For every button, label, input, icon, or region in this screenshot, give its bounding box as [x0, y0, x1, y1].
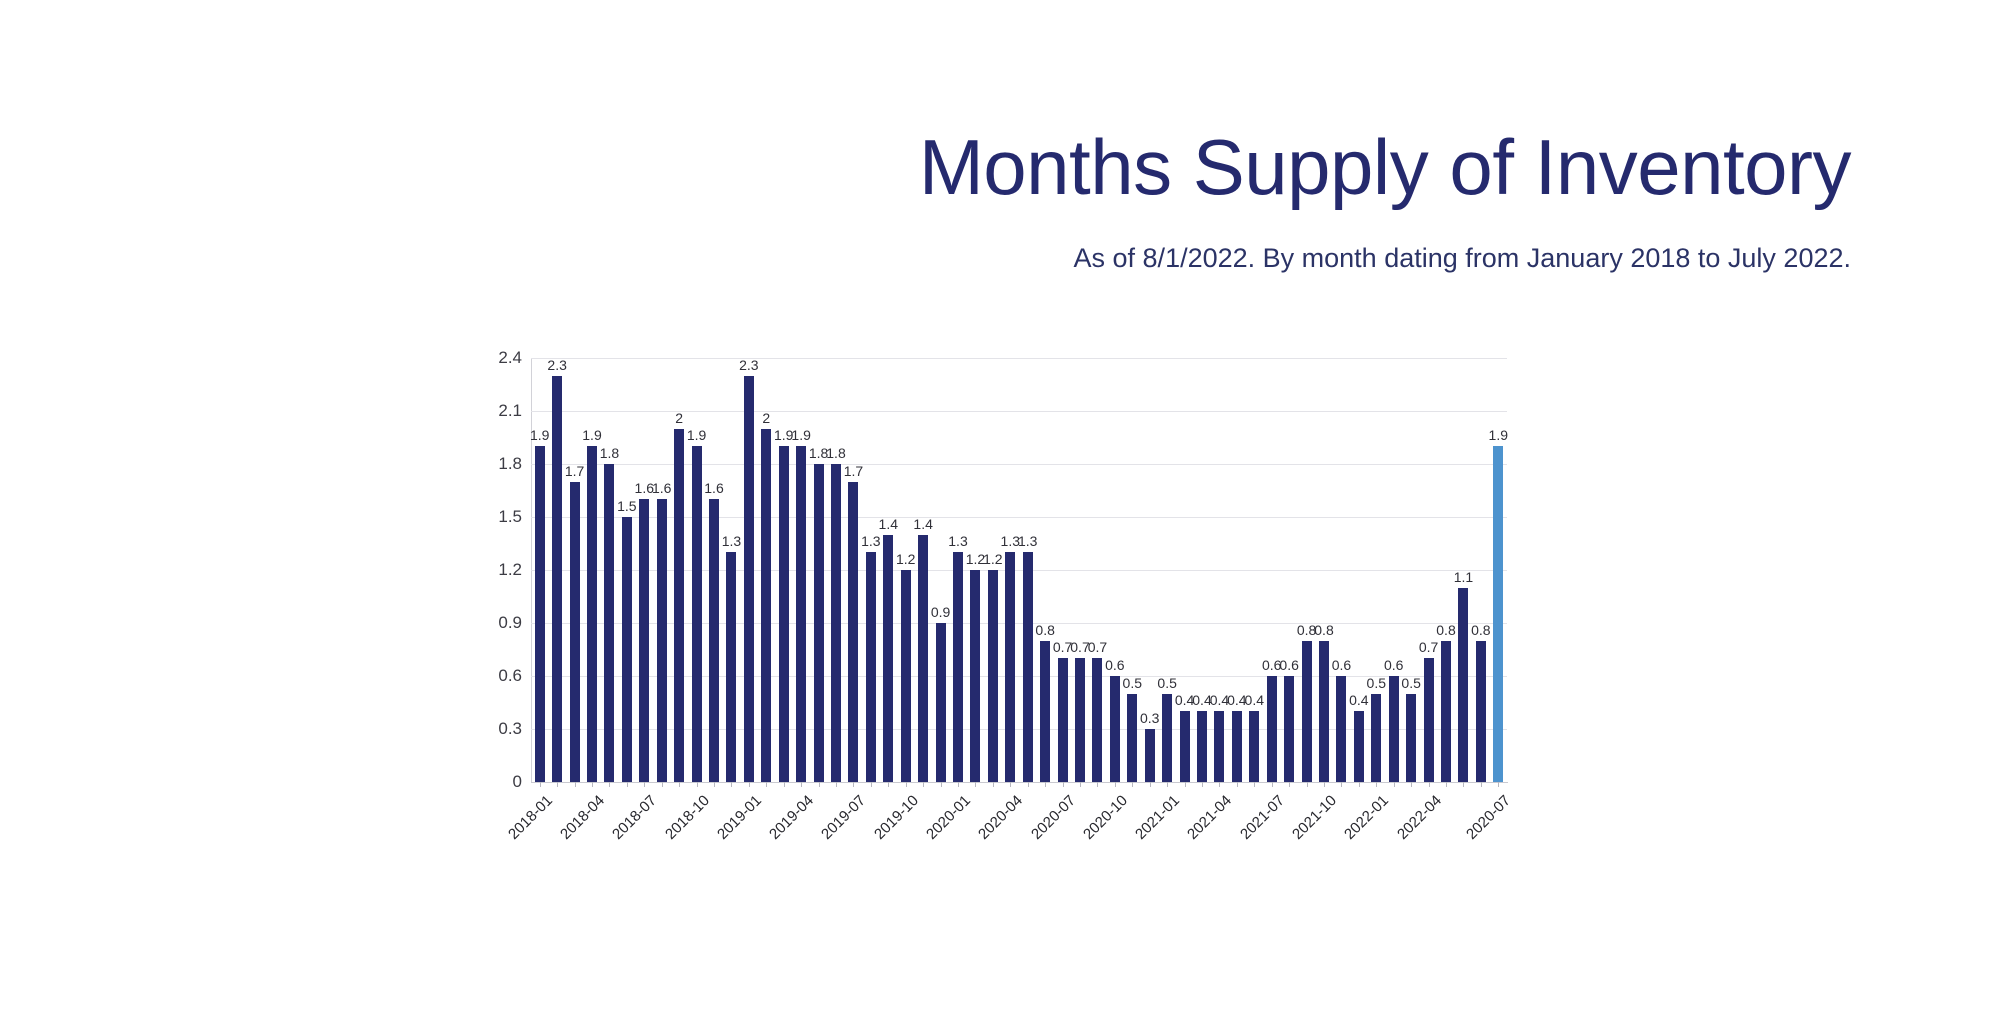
bar-value-label: 0.4 [1349, 692, 1368, 708]
bar[interactable] [570, 482, 580, 782]
bar-value-label: 2.3 [547, 357, 566, 373]
gridline [531, 358, 1507, 359]
bar-value-label: 0.7 [1088, 639, 1107, 655]
x-axis-tick-mark [784, 782, 785, 787]
bar-value-label: 0.8 [1436, 622, 1455, 638]
bar-value-label: 0.5 [1401, 675, 1420, 691]
x-axis-tick-mark [1324, 782, 1325, 787]
bar[interactable] [936, 623, 946, 782]
bar[interactable] [1162, 694, 1172, 782]
bar-value-label: 0.6 [1105, 657, 1124, 673]
bar-value-label: 1.9 [791, 427, 810, 443]
y-axis-tick-label: 2.4 [498, 348, 522, 368]
x-axis-tick-mark [1376, 782, 1377, 787]
x-axis-tick-mark [958, 782, 959, 787]
bar[interactable] [1232, 711, 1242, 782]
bar[interactable] [918, 535, 928, 782]
bar-value-label: 1.3 [861, 533, 880, 549]
x-axis-tick-mark [1219, 782, 1220, 787]
bar-value-label: 1.3 [1018, 533, 1037, 549]
bar[interactable] [1197, 711, 1207, 782]
bar-value-label: 0.6 [1384, 657, 1403, 673]
bar[interactable] [848, 482, 858, 782]
x-axis-tick-mark [1185, 782, 1186, 787]
y-axis-tick-labels: 00.30.60.91.21.51.82.12.4 [470, 358, 522, 782]
bar[interactable] [1127, 694, 1137, 782]
x-axis-tick-mark [1237, 782, 1238, 787]
x-axis-tick-mark [1080, 782, 1081, 787]
x-axis-tick-mark [609, 782, 610, 787]
bar[interactable] [1180, 711, 1190, 782]
bar-value-label: 2.3 [739, 357, 758, 373]
x-axis-tick-mark [1359, 782, 1360, 787]
bar-value-label: 1.9 [687, 427, 706, 443]
y-axis-tick-label: 0.3 [498, 719, 522, 739]
x-axis-tick-mark [662, 782, 663, 787]
bar[interactable] [1005, 552, 1015, 782]
bar-value-label: 1.3 [722, 533, 741, 549]
bar[interactable] [779, 446, 789, 782]
bar[interactable] [988, 570, 998, 782]
bar[interactable] [1040, 641, 1050, 782]
x-axis-tick-mark [540, 782, 541, 787]
bar[interactable] [1354, 711, 1364, 782]
bar-value-label: 2 [762, 410, 770, 426]
bar[interactable] [535, 446, 545, 782]
bar-value-label: 1.7 [844, 463, 863, 479]
bar[interactable] [1476, 641, 1486, 782]
x-axis-tick-mark [1272, 782, 1273, 787]
x-axis-tick-mark [853, 782, 854, 787]
x-axis-tick-mark [1150, 782, 1151, 787]
bar-value-label: 1.2 [983, 551, 1002, 567]
bar-value-label: 0.6 [1279, 657, 1298, 673]
bar[interactable] [1023, 552, 1033, 782]
bar-value-label: 1.1 [1454, 569, 1473, 585]
bar[interactable] [587, 446, 597, 782]
x-axis-tick-mark [644, 782, 645, 787]
y-axis-tick-label: 0.9 [498, 613, 522, 633]
bar[interactable] [622, 517, 632, 782]
x-axis-tick-mark [557, 782, 558, 787]
bar[interactable] [1319, 641, 1329, 782]
bar[interactable] [604, 464, 614, 782]
y-axis-tick-label: 1.2 [498, 560, 522, 580]
bar-chart: 00.30.60.91.21.51.82.12.4 1.92.31.71.91.… [0, 0, 2000, 1000]
bar[interactable] [744, 376, 754, 782]
x-axis-tick-mark [1341, 782, 1342, 787]
bar-value-label: 1.6 [652, 480, 671, 496]
x-axis-tick-mark [1307, 782, 1308, 787]
bar[interactable] [814, 464, 824, 782]
bar-value-label: 1.8 [600, 445, 619, 461]
x-axis-tick-mark [1446, 782, 1447, 787]
bar[interactable] [1389, 676, 1399, 782]
bar-value-label: 1.6 [704, 480, 723, 496]
bar-value-label: 0.4 [1245, 692, 1264, 708]
bar[interactable] [796, 446, 806, 782]
x-axis-tick-mark [1254, 782, 1255, 787]
bar[interactable] [1441, 641, 1451, 782]
x-axis-tick-mark [1289, 782, 1290, 787]
bar[interactable] [1058, 658, 1068, 782]
bar-value-label: 0.7 [1419, 639, 1438, 655]
y-axis-tick-label: 2.1 [498, 401, 522, 421]
bar[interactable] [1458, 588, 1468, 782]
x-axis-tick-mark [575, 782, 576, 787]
x-axis-tick-mark [1063, 782, 1064, 787]
bar-value-label: 0.9 [931, 604, 950, 620]
bar[interactable] [901, 570, 911, 782]
x-axis-tick-mark [1463, 782, 1464, 787]
x-axis-tick-mark [801, 782, 802, 787]
bar-value-label: 1.4 [879, 516, 898, 532]
bar[interactable] [1371, 694, 1381, 782]
bar-value-label: 0.6 [1332, 657, 1351, 673]
x-axis-tick-mark [731, 782, 732, 787]
bar[interactable] [1110, 676, 1120, 782]
bar[interactable] [1249, 711, 1259, 782]
bar[interactable] [866, 552, 876, 782]
bar[interactable] [761, 429, 771, 782]
x-axis-tick-mark [923, 782, 924, 787]
bar[interactable] [709, 499, 719, 782]
bar[interactable] [1267, 676, 1277, 782]
x-axis-tick-mark [697, 782, 698, 787]
bar-value-label: 1.2 [896, 551, 915, 567]
bar-value-label: 1.9 [530, 427, 549, 443]
bar-value-label: 0.8 [1314, 622, 1333, 638]
bar[interactable] [1284, 676, 1294, 782]
bar-value-label: 1.8 [826, 445, 845, 461]
y-axis-tick-label: 1.8 [498, 454, 522, 474]
x-axis-tick-mark [1028, 782, 1029, 787]
bar[interactable] [1424, 658, 1434, 782]
x-axis-tick-mark [993, 782, 994, 787]
bar-value-label: 0.5 [1367, 675, 1386, 691]
x-axis-tick-mark [1429, 782, 1430, 787]
bar[interactable] [1145, 729, 1155, 782]
bar-value-label: 0.3 [1140, 710, 1159, 726]
bar[interactable] [953, 552, 963, 782]
x-axis-tick-mark [766, 782, 767, 787]
y-axis-tick-label: 1.5 [498, 507, 522, 527]
x-axis-tick-mark [836, 782, 837, 787]
x-axis-tick-mark [941, 782, 942, 787]
bar[interactable] [657, 499, 667, 782]
bar-value-label: 1.9 [582, 427, 601, 443]
bar[interactable] [883, 535, 893, 782]
bar[interactable] [674, 429, 684, 782]
bar[interactable] [1336, 676, 1346, 782]
y-axis-tick-label: 0 [513, 772, 522, 792]
bar[interactable] [1214, 711, 1224, 782]
bar[interactable] [639, 499, 649, 782]
bar-value-label: 0.5 [1123, 675, 1142, 691]
x-axis-tick-mark [1481, 782, 1482, 787]
bar[interactable] [831, 464, 841, 782]
bar[interactable] [692, 446, 702, 782]
x-axis-tick-mark [1097, 782, 1098, 787]
x-axis-tick-mark [906, 782, 907, 787]
x-axis-tick-mark [592, 782, 593, 787]
x-axis-tick-mark [1167, 782, 1168, 787]
bar[interactable] [1092, 658, 1102, 782]
bar[interactable] [1075, 658, 1085, 782]
bar-value-label: 1.4 [913, 516, 932, 532]
bar-value-label: 0.8 [1471, 622, 1490, 638]
x-axis-line [531, 782, 1508, 783]
x-axis-tick-mark [888, 782, 889, 787]
x-axis-tick-mark [1498, 782, 1499, 787]
x-axis-tick-mark [1411, 782, 1412, 787]
bar-value-label: 1.5 [617, 498, 636, 514]
x-axis-tick-mark [1045, 782, 1046, 787]
x-axis-tick-mark [819, 782, 820, 787]
x-axis-tick-mark [871, 782, 872, 787]
x-axis-tick-mark [714, 782, 715, 787]
x-axis-tick-mark [1132, 782, 1133, 787]
bar-value-label: 1.7 [565, 463, 584, 479]
x-axis-tick-mark [1202, 782, 1203, 787]
bar[interactable] [552, 376, 562, 782]
x-axis-tick-mark [1115, 782, 1116, 787]
bar[interactable] [726, 552, 736, 782]
x-axis-tick-mark [749, 782, 750, 787]
bar-value-label: 1.9 [1489, 427, 1508, 443]
x-axis-tick-mark [975, 782, 976, 787]
bar[interactable] [970, 570, 980, 782]
x-axis-tick-mark [679, 782, 680, 787]
bar[interactable] [1493, 446, 1503, 782]
bar[interactable] [1406, 694, 1416, 782]
bar-value-label: 2 [675, 410, 683, 426]
x-axis-tick-mark [1394, 782, 1395, 787]
plot-area: 1.92.31.71.91.81.51.61.621.91.61.32.321.… [531, 358, 1507, 782]
x-axis-tick-mark [1010, 782, 1011, 787]
bar[interactable] [1302, 641, 1312, 782]
bar-value-label: 1.3 [948, 533, 967, 549]
x-axis-tick-mark [627, 782, 628, 787]
y-axis-tick-label: 0.6 [498, 666, 522, 686]
bar-value-label: 0.5 [1157, 675, 1176, 691]
bar-value-label: 0.8 [1035, 622, 1054, 638]
